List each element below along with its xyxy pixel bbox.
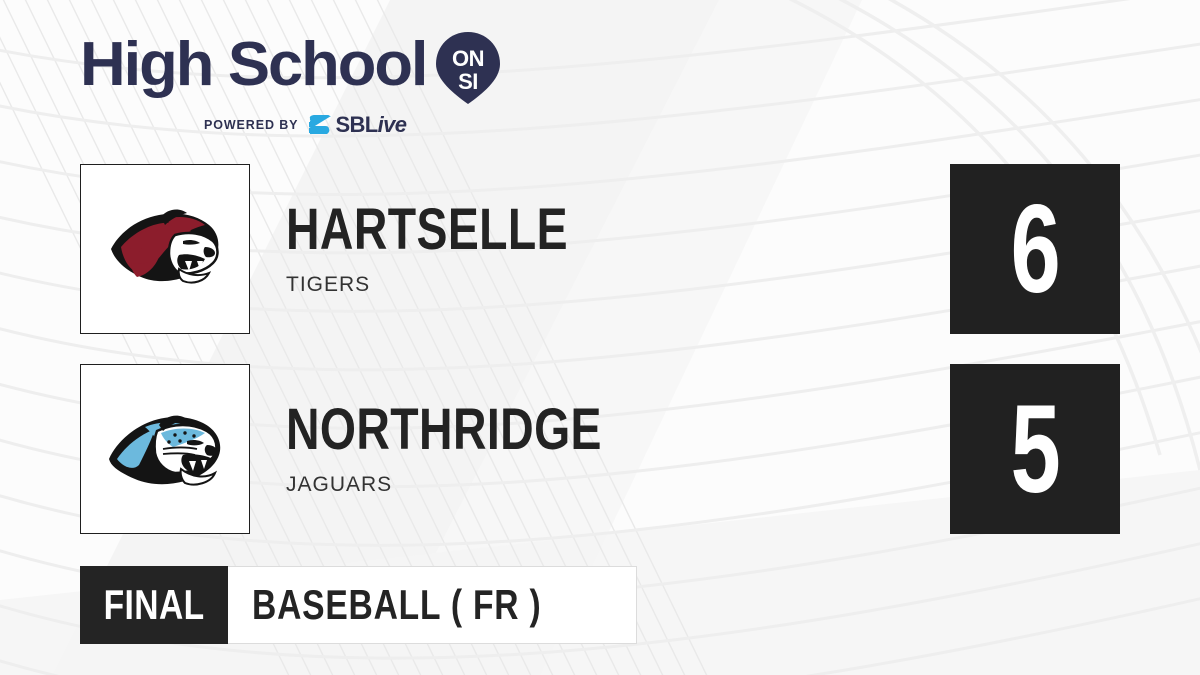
team-name: NORTHRIDGE	[286, 401, 602, 459]
on-si-pin-icon: ON SI	[432, 30, 504, 106]
team-logo-box	[80, 364, 250, 534]
sport-label: BASEBALL ( FR )	[252, 584, 542, 626]
team-mascot: JAGUARS	[286, 473, 681, 497]
sport-label-box: BASEBALL ( FR )	[228, 566, 637, 644]
team-mascot: TIGERS	[286, 273, 639, 297]
brand-title: High School	[80, 34, 426, 96]
badge-top-text: ON	[452, 46, 484, 71]
team-score-box: 6	[950, 164, 1120, 334]
badge-bottom-text: SI	[458, 69, 478, 94]
sblive-wordmark: SBLive	[335, 114, 406, 136]
team-name: HARTSELLE	[286, 201, 568, 259]
powered-by-label: POWERED BY	[204, 118, 298, 132]
team-score: 5	[1010, 387, 1059, 512]
sblive-word-main: SBL	[335, 112, 377, 137]
tiger-head-logo-icon	[101, 197, 229, 301]
sblive-word-italic: ive	[378, 112, 407, 137]
powered-by-row: POWERED BY SBLive	[204, 114, 510, 136]
team-score-box: 5	[950, 364, 1120, 534]
team-score: 6	[1010, 187, 1059, 312]
team-text-block: NORTHRIDGE JAGUARS	[286, 364, 681, 534]
sblive-lightning-icon	[307, 114, 333, 136]
team-text-block: HARTSELLE TIGERS	[286, 164, 639, 334]
game-state-badge: FINAL	[80, 566, 228, 644]
jaguar-head-logo-icon	[101, 397, 229, 501]
status-bar: FINAL BASEBALL ( FR )	[80, 566, 637, 644]
brand-header: High School ON SI POWERED BY SBLive	[80, 34, 510, 134]
team-logo-box	[80, 164, 250, 334]
game-state-label: FINAL	[104, 584, 205, 626]
